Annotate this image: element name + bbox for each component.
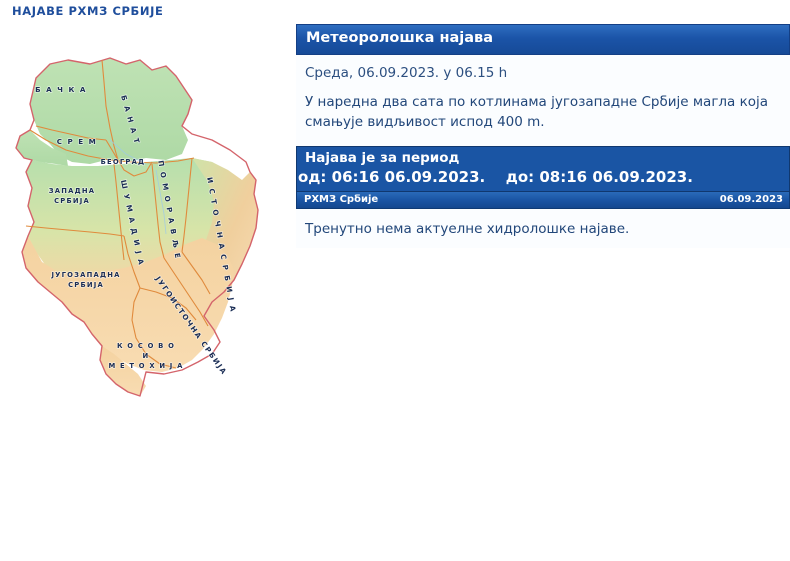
map-label-zapadna-srbija: ЗАПАДНА [49, 187, 95, 195]
period-to-time: 08:16 [539, 168, 587, 186]
announcements-panel: Метеоролошка најава Среда, 06.09.2023. у… [296, 24, 790, 248]
meteo-body: Среда, 06.09.2023. у 06.15 h У наредна д… [296, 55, 790, 146]
map-label-jugozapadna-srbija-2: СРБИЈА [68, 281, 104, 289]
hydro-body: Тренутно нема актуелне хидролошке најаве… [296, 209, 790, 249]
map-svg: Б А Ч К А Б А Н А Т С Р Е М БЕОГРАД ЗАПА… [6, 30, 288, 408]
period-title: Најава је за период [297, 150, 789, 168]
meteo-header: Метеоролошка најава [296, 24, 790, 55]
map-label-srem: С Р Е М [57, 137, 98, 146]
map-label-jugozapadna-srbija: ЈУГОЗАПАДНА [50, 271, 120, 279]
meteo-period-block: Најава је за период од: 06:16 06.09.2023… [296, 146, 790, 192]
map-label-zapadna-srbija-2: СРБИЈА [54, 197, 90, 205]
map-label-kosovo-i: И [143, 352, 150, 360]
map-label-beograd: БЕОГРАД [101, 158, 146, 166]
map-label-metohija: М Е Т О Х И Ј А [108, 362, 183, 370]
source-bar: РХМЗ Србије 06.09.2023 [296, 192, 790, 209]
period-to-label: до: [506, 168, 534, 186]
hydro-text: Тренутно нема актуелне хидролошке најаве… [305, 221, 781, 239]
period-from-label: од: [298, 168, 326, 186]
period-to-date: 06.09.2023. [592, 168, 693, 186]
page-title: НАЈАВЕ РХМЗ СРБИЈЕ [12, 4, 163, 18]
period-from-time: 06:16 [332, 168, 380, 186]
meteo-warning-text: У наредна два сата по котлинама југозапа… [305, 93, 781, 142]
period-range: од: 06:16 06.09.2023. до: 08:16 06.09.20… [297, 168, 789, 187]
period-from-date: 06.09.2023. [385, 168, 486, 186]
source-name: РХМЗ Србије [304, 194, 378, 205]
serbia-region-map: Б А Ч К А Б А Н А Т С Р Е М БЕОГРАД ЗАПА… [6, 30, 288, 408]
source-date: 06.09.2023 [720, 194, 783, 205]
meteo-date-line: Среда, 06.09.2023. у 06.15 h [305, 65, 781, 93]
map-label-kosovo: К О С О В О [117, 342, 175, 350]
map-label-backa: Б А Ч К А [35, 85, 87, 94]
